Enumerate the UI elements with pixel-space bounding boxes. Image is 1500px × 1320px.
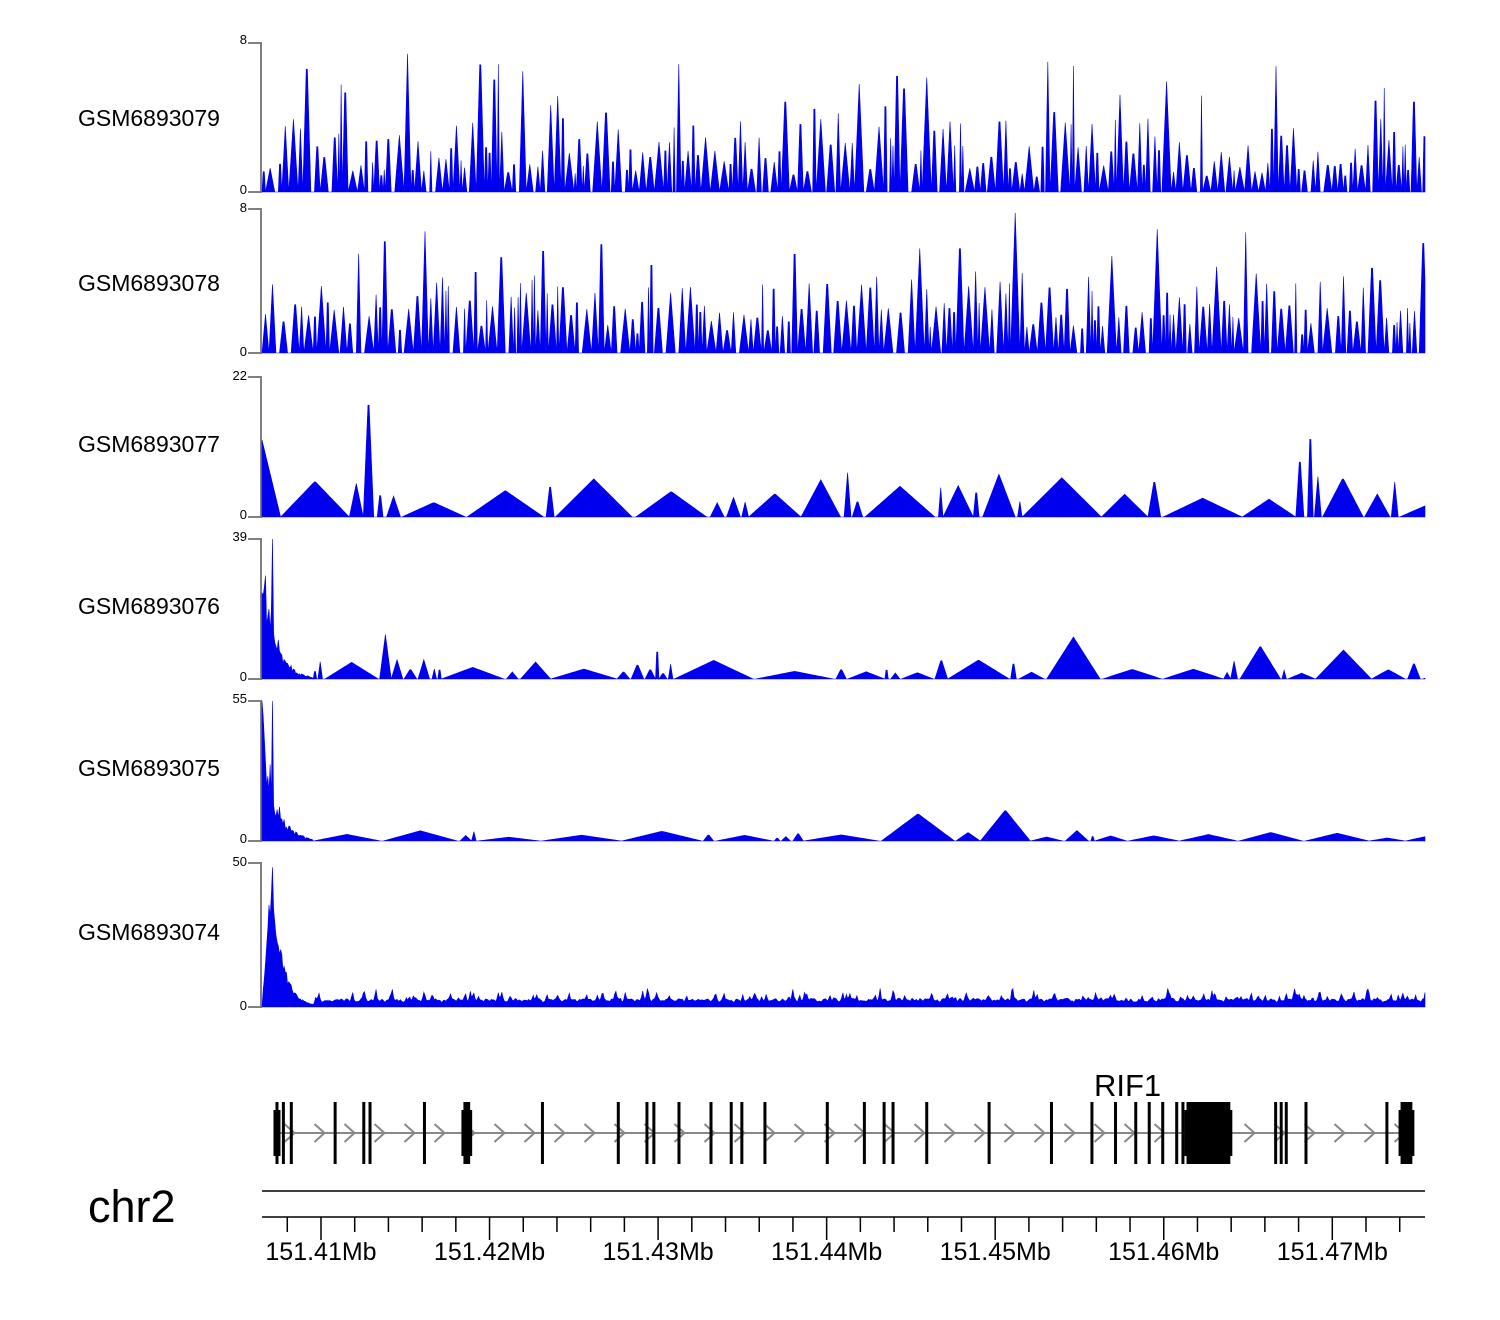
chromosome-label: chr2 [88,1181,176,1233]
y-axis-GSM6893077 [248,377,261,517]
coverage-area-GSM6893078 [262,213,1425,353]
axis-tick-label: 151.45Mb [940,1238,1051,1267]
exon [1148,1102,1151,1164]
exon [988,1102,991,1164]
exon [423,1102,426,1164]
exon [925,1102,928,1164]
exon [1161,1102,1164,1164]
exon [763,1102,766,1164]
exon [290,1102,293,1164]
axis-tick-label: 151.46Mb [1108,1238,1219,1267]
y-axis-GSM6893075 [248,701,261,841]
exon [677,1102,680,1164]
exon [541,1102,544,1164]
exon [1280,1102,1283,1164]
axis-tick-label: 151.47Mb [1277,1238,1388,1267]
exon [1175,1102,1178,1164]
exon [1304,1102,1307,1164]
exon [892,1102,895,1164]
coverage-area-GSM6893079 [262,54,1425,192]
coverage-tracks [0,0,1500,1020]
axis-tick-label: 151.41Mb [265,1238,376,1267]
exon [362,1102,365,1164]
coverage-area-GSM6893075 [262,701,1425,841]
exon-cds-block [273,1110,280,1156]
y-axis-GSM6893074 [248,863,261,1007]
exon [369,1102,372,1164]
exon [1134,1102,1137,1164]
coverage-area-GSM6893076 [262,539,1425,679]
exon [863,1102,866,1164]
gene-name-label: RIF1 [1094,1068,1161,1104]
exon [826,1102,829,1164]
exon [710,1102,713,1164]
exon [334,1102,337,1164]
exon [1050,1102,1053,1164]
exon [1385,1102,1388,1164]
exon [645,1102,648,1164]
exon-cds-block [1185,1110,1233,1156]
exon [282,1102,285,1164]
y-axis-GSM6893078 [248,209,261,353]
coverage-area-GSM6893074 [262,867,1425,1007]
exon [1090,1102,1093,1164]
y-axis-GSM6893076 [248,539,261,679]
axis-tick-label: 151.43Mb [602,1238,713,1267]
exon [730,1102,733,1164]
axis-tick-label: 151.42Mb [434,1238,545,1267]
exon [883,1102,886,1164]
exon [1285,1102,1288,1164]
genome-browser-figure: GSM6893079 GSM6893078 GSM6893077 GSM6893… [0,0,1500,1320]
exon [1274,1102,1277,1164]
exon [617,1102,620,1164]
coverage-area-GSM6893077 [262,405,1425,517]
y-axis-GSM6893079 [248,43,261,192]
exon [1114,1102,1117,1164]
axis-tick-label: 151.44Mb [771,1238,882,1267]
exon [740,1102,743,1164]
exon-cds-block [461,1110,472,1156]
exon-cds-block [1399,1110,1415,1156]
exon [1181,1102,1184,1164]
exon [652,1102,655,1164]
gene-model-track [0,1060,1500,1240]
